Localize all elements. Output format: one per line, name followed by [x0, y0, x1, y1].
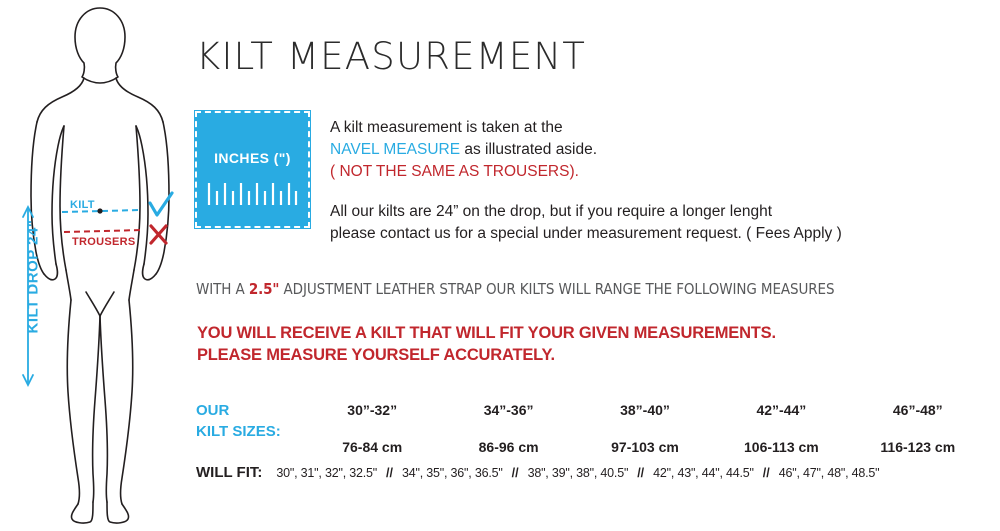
kilt-size-table: OUR KILT SIZES: 30”-32” 76-84 cm 34”-36”… — [196, 400, 986, 458]
drop-length-paragraph: All our kilts are 24” on the drop, but i… — [330, 201, 842, 245]
strap-line-before: WITH A — [196, 280, 249, 298]
ruler-icon — [206, 181, 299, 207]
inches-caption: INCHES (") — [194, 150, 311, 166]
navel-line-1: A kilt measurement is taken at the — [330, 117, 597, 139]
navel-line-3: ( NOT THE SAME AS TROUSERS). — [330, 161, 597, 183]
will-fit-separator: // — [628, 466, 653, 480]
size-cm: 97-103 cm — [577, 437, 713, 458]
size-column: 46”-48” 116-123 cm — [850, 400, 986, 458]
inches-callout-box: INCHES (") — [194, 110, 311, 229]
size-cm: 86-96 cm — [440, 437, 576, 458]
size-column: 38”-40” 97-103 cm — [577, 400, 713, 458]
will-fit-values: 34", 35", 36", 36.5" — [402, 466, 503, 480]
trousers-line-label: TROUSERS — [72, 236, 136, 248]
size-cm: 116-123 cm — [850, 437, 986, 458]
navel-line-2-rest: as illustrated aside. — [460, 141, 597, 158]
size-inches: 42”-44” — [713, 400, 849, 421]
size-column: 34”-36” 86-96 cm — [440, 400, 576, 458]
size-inches: 30”-32” — [304, 400, 440, 421]
will-fit-values: 30", 31", 32", 32.5" — [276, 466, 377, 480]
strap-size-highlight: 2.5" — [249, 280, 280, 298]
kilt-line-label: KILT — [70, 199, 95, 211]
navel-line-2: NAVEL MEASURE as illustrated aside. — [330, 139, 597, 161]
cross-mark-icon — [151, 226, 166, 243]
kilt-sizes-row-label: OUR KILT SIZES: — [196, 400, 304, 442]
will-fit-values: 46", 47", 48", 48.5" — [779, 466, 880, 480]
drop-line-1: All our kilts are 24” on the drop, but i… — [330, 201, 842, 223]
size-cm: 106-113 cm — [713, 437, 849, 458]
navel-measure-paragraph: A kilt measurement is taken at the NAVEL… — [330, 117, 597, 183]
kilt-sizes-label-line-2: KILT SIZES: — [196, 421, 304, 442]
strap-line-after: ADJUSTMENT LEATHER STRAP OUR KILTS WILL … — [279, 280, 834, 298]
drop-line-2: please contact us for a special under me… — [330, 223, 842, 245]
page-title: KILT MEASUREMENT — [196, 35, 586, 78]
accuracy-warning: YOU WILL RECEIVE A KILT THAT WILL FIT YO… — [197, 322, 776, 366]
will-fit-separator: // — [754, 466, 779, 480]
will-fit-label: WILL FIT: — [196, 464, 262, 481]
will-fit-values: 38", 39", 38", 40.5" — [528, 466, 629, 480]
will-fit-separator: // — [377, 466, 402, 480]
navel-measure-highlight: NAVEL MEASURE — [330, 141, 460, 158]
warning-line-1: YOU WILL RECEIVE A KILT THAT WILL FIT YO… — [197, 322, 776, 344]
size-column: 30”-32” 76-84 cm — [304, 400, 440, 458]
navel-point — [97, 208, 102, 213]
will-fit-values: 42", 43", 44", 44.5" — [653, 466, 754, 480]
will-fit-separator: // — [503, 466, 528, 480]
size-cm: 76-84 cm — [304, 437, 440, 458]
body-illustration-panel: KILT DROP 24" KILT TROUSERS — [0, 0, 200, 531]
trousers-measure-line — [64, 230, 142, 232]
size-inches: 34”-36” — [440, 400, 576, 421]
strap-adjustment-line: WITH A 2.5" ADJUSTMENT LEATHER STRAP OUR… — [196, 280, 834, 298]
size-inches: 38”-40” — [577, 400, 713, 421]
size-column: 42”-44” 106-113 cm — [713, 400, 849, 458]
will-fit-row: WILL FIT: 30", 31", 32", 32.5" // 34", 3… — [196, 464, 996, 481]
kilt-sizes-label-line-1: OUR — [196, 400, 304, 421]
kilt-drop-label: KILT DROP 24" — [25, 207, 42, 347]
warning-line-2: PLEASE MEASURE YOURSELF ACCURATELY. — [197, 344, 776, 366]
size-inches: 46”-48” — [850, 400, 986, 421]
